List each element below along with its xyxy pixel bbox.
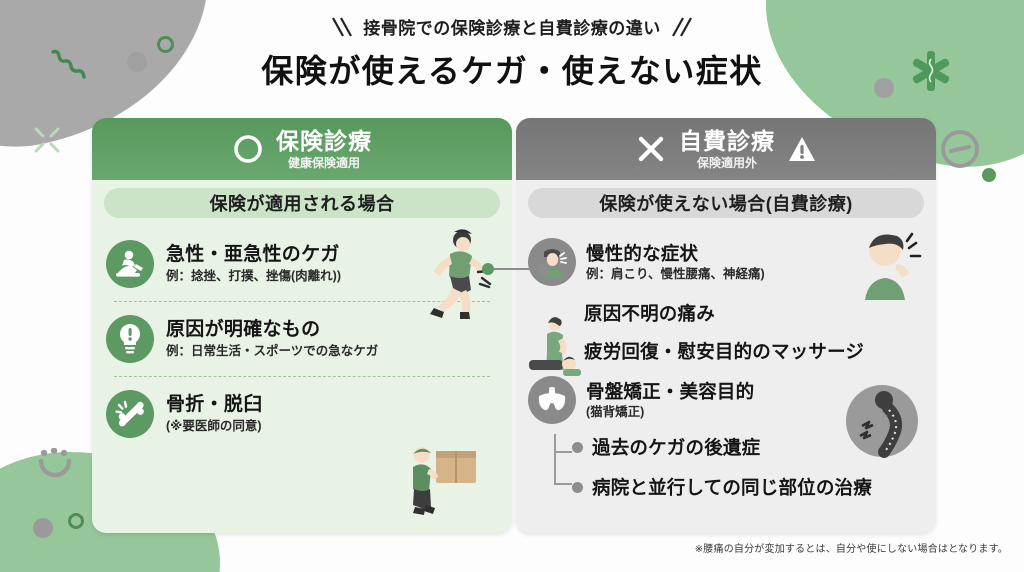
panel-connector: [480, 262, 552, 276]
bullet-label: 病院と並行しての同じ部位の治療: [592, 474, 872, 500]
right-panel-subtitle: 保険適用外: [679, 157, 775, 169]
massage-illustration: [527, 314, 599, 380]
slash-left-icon: [329, 16, 353, 38]
bullet-label: 過去のケガの後遺症: [592, 434, 760, 460]
list-item-text: 急性・亜急性のケガ 例：捻挫、打撲、挫傷(肉離れ)): [166, 244, 341, 283]
decor-green-dot-icon: [982, 168, 996, 182]
list-item-text: 原因が明確なもの 例：日常生活・スポーツでの急なケガ: [166, 319, 378, 358]
bullet-connector-line: [550, 434, 580, 496]
page-header: 接骨院での保険診療と自費診療の違い 保険が使えるケガ・使えない症状: [0, 14, 1024, 92]
neck-pain-person-illustration: [845, 228, 931, 304]
list-item-title: 急性・亜急性のケガ: [166, 244, 341, 266]
left-panel-band-text: 保険が適用される場合: [210, 190, 395, 216]
list-item-title: 慢性的な症状: [586, 243, 765, 264]
list-item-sub: (※要医師の同意): [166, 419, 263, 433]
bone-fracture-icon: [106, 390, 154, 438]
list-item-title: 原因が明確なもの: [166, 319, 378, 341]
left-panel-header: 保険診療 健康保険適用: [92, 118, 512, 180]
right-panel-title-block: 自費診療 保険適用外: [679, 130, 775, 169]
page-title: 保険が使えるケガ・使えない症状: [0, 46, 1024, 92]
stethoscope-icon: [35, 448, 75, 483]
list-item-text: 慢性的な症状 例：肩こり、慢性腰痛、神経痛): [586, 243, 765, 282]
lightbulb-icon: [106, 315, 154, 363]
decor-gray-dot-3-icon: [33, 518, 53, 538]
right-panel-band-text: 保険が使えない場合(自費診療): [599, 190, 853, 216]
injured-person-icon: [106, 240, 154, 288]
subtitle-row: 接骨院での保険診療と自費診療の違い: [0, 14, 1024, 39]
right-panel-title: 自費診療: [679, 130, 775, 153]
list-item-title: 原因不明の痛み: [584, 300, 715, 326]
list-item: 骨折・脱臼 (※要医師の同意): [92, 390, 512, 438]
list-item-text: 骨盤矯正・美容目的 (猫背矯正): [586, 381, 754, 420]
list-item-title: 疲労回復・慰安目的のマッサージ: [584, 338, 864, 364]
list-item-sub: 例：捻挫、打撲、挫傷(肉離れ)): [166, 269, 341, 283]
cross-x-mark-icon: [635, 133, 667, 165]
delivery-person-box-illustration: [398, 443, 484, 519]
left-panel-subtitle: 健康保険適用: [276, 157, 372, 169]
right-panel-band: 保険が使えない場合(自費診療): [528, 188, 924, 218]
header-subtitle: 接骨院での保険診療と自費診療の違い: [363, 14, 661, 39]
circle-o-mark-icon: [232, 133, 264, 165]
footnote: ※腰痛の自分が変加するとは、自分や使にしない場合はとなります。: [695, 540, 1008, 555]
list-item-title: 骨折・脱臼: [166, 394, 263, 416]
right-panel-header: 自費診療 保険適用外: [516, 118, 936, 180]
decor-green-ring-2-icon: [68, 513, 84, 529]
left-panel-title: 保険診療: [276, 130, 372, 153]
left-panel-title-block: 保険診療 健康保険適用: [276, 130, 372, 169]
no-entry-icon: [941, 130, 979, 168]
list-divider: [114, 376, 490, 377]
list-item-sub: 例：日常生活・スポーツでの急なケガ: [166, 344, 378, 358]
slash-right-icon: [671, 16, 695, 38]
infographic-canvas: 接骨院での保険診療と自費診療の違い 保険が使えるケガ・使えない症状 保険診療 健…: [0, 0, 1024, 572]
warning-triangle-icon: [787, 134, 817, 164]
list-item-sub: 例：肩こり、慢性腰痛、神経痛): [586, 267, 765, 281]
spine-pain-illustration: [842, 382, 922, 460]
decor-sparkle-icon: [32, 125, 62, 155]
left-panel-band: 保険が適用される場合: [104, 188, 500, 218]
pelvis-icon: [528, 376, 576, 424]
list-item-sub: (猫背矯正): [586, 405, 754, 419]
list-item-text: 骨折・脱臼 (※要医師の同意): [166, 394, 263, 433]
list-item-title: 骨盤矯正・美容目的: [586, 381, 754, 402]
